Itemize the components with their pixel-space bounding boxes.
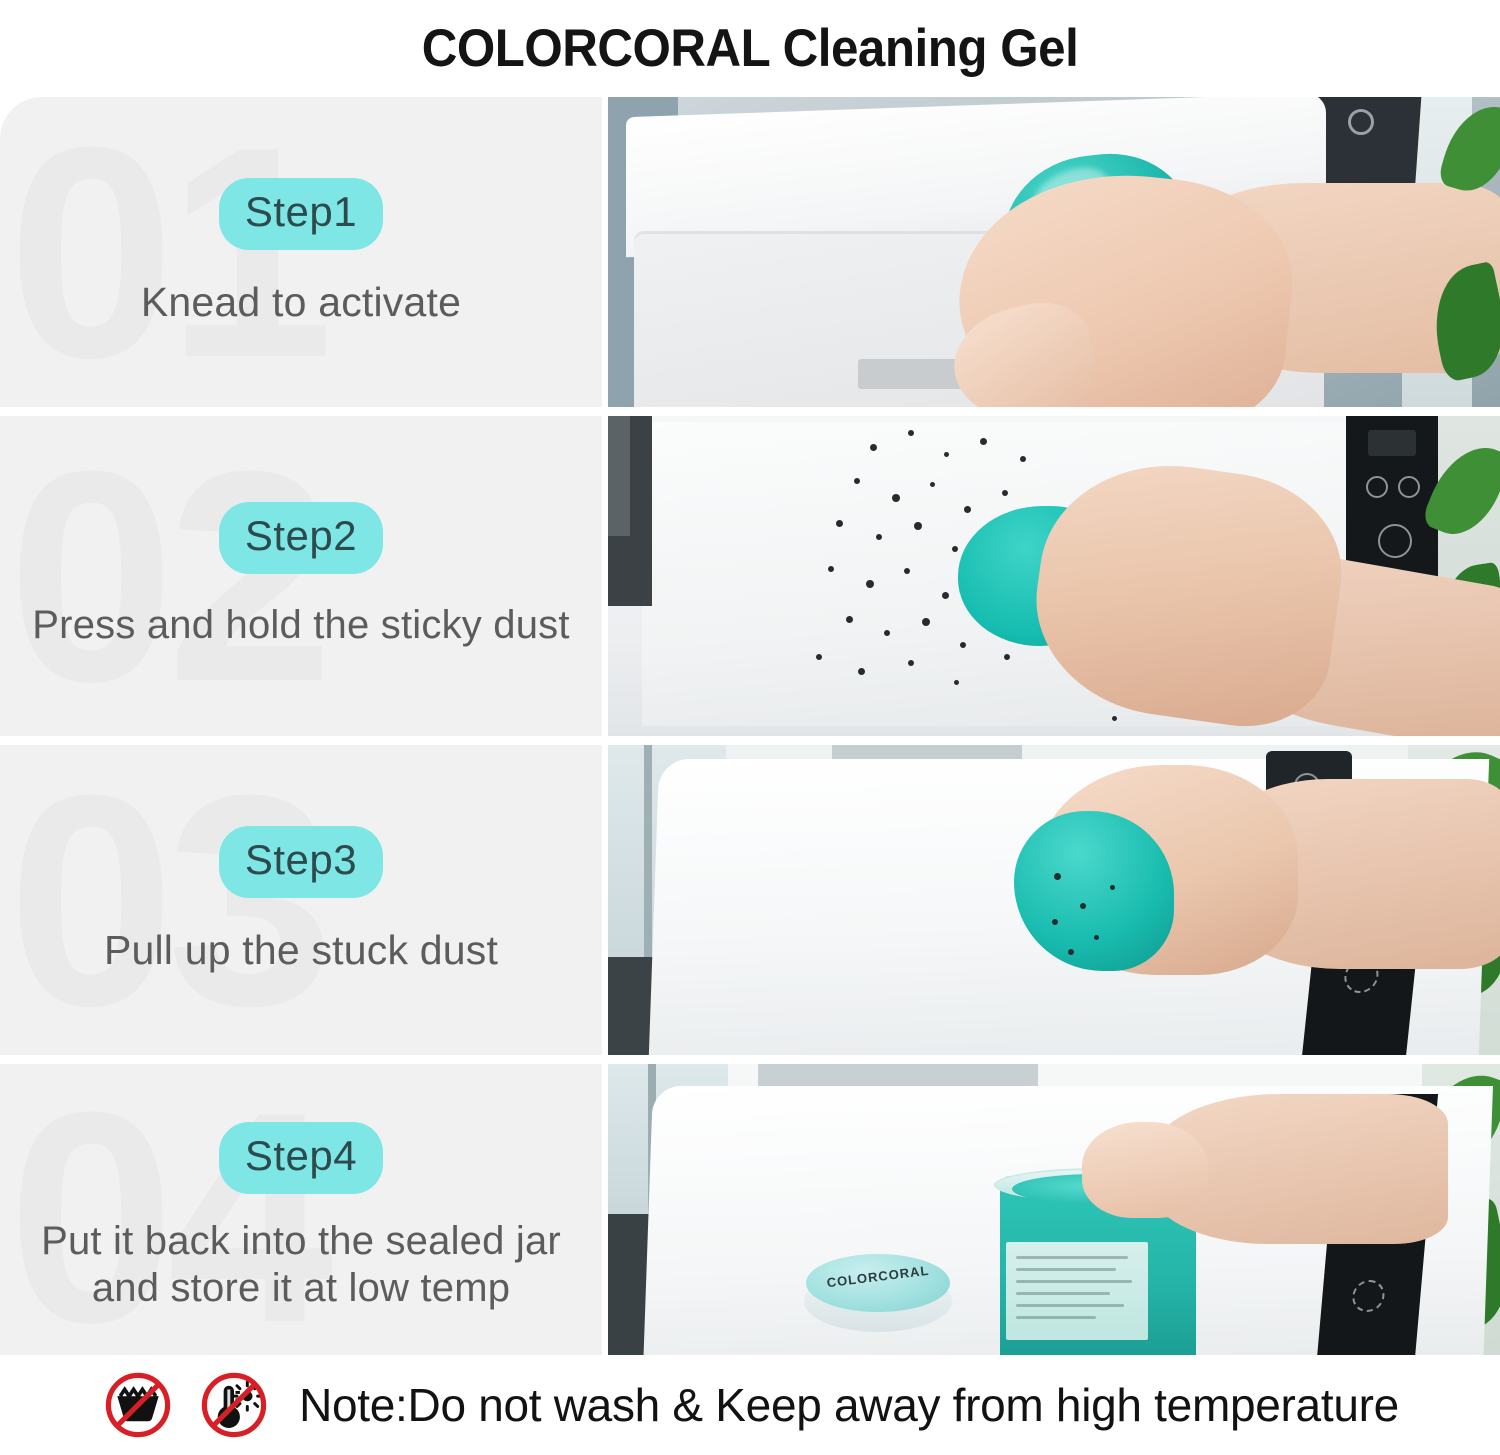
step-row: 04 Step4 Put it back into the sealed jar… <box>0 1064 1500 1370</box>
step-row: 02 Step2 Press and hold the sticky dust <box>0 416 1500 736</box>
no-wash-icon <box>101 1368 175 1442</box>
step-photo <box>608 416 1500 736</box>
steps-list: 01 Step1 Knead to activate 02 <box>0 97 1500 1370</box>
gear-icon <box>1398 476 1420 498</box>
display-readout <box>1368 430 1416 456</box>
step-description: Press and hold the sticky dust <box>32 602 569 649</box>
page-title: COLORCORAL Cleaning Gel <box>422 18 1079 79</box>
step-text-panel: 04 Step4 Put it back into the sealed jar… <box>0 1064 602 1370</box>
step-row: 03 Step3 Pull up the stuck dust <box>0 745 1500 1055</box>
page-header: COLORCORAL Cleaning Gel <box>0 0 1500 97</box>
step-badge: Step4 <box>219 1122 383 1194</box>
step-description: Pull up the stuck dust <box>104 926 498 974</box>
step-badge: Step2 <box>219 502 383 574</box>
no-high-temperature-icon <box>197 1368 271 1442</box>
step-badge: Step1 <box>219 178 383 250</box>
step-photo <box>608 745 1500 1055</box>
power-icon <box>1348 109 1374 135</box>
footer-note-bar: Note:Do not wash & Keep away from high t… <box>0 1355 1500 1455</box>
step-photo: COLORCORAL <box>608 1064 1500 1370</box>
footer-note-text: Note:Do not wash & Keep away from high t… <box>299 1378 1399 1432</box>
dark-edge-left-inner <box>608 416 630 536</box>
step-photo <box>608 97 1500 407</box>
step-description: Knead to activate <box>141 278 461 326</box>
step-text-panel: 01 Step1 Knead to activate <box>0 97 602 407</box>
jar-label <box>1006 1242 1148 1340</box>
finger <box>1082 1122 1208 1218</box>
step-badge: Step3 <box>219 826 383 898</box>
minus-icon <box>1366 476 1388 498</box>
step-text-panel: 02 Step2 Press and hold the sticky dust <box>0 416 602 736</box>
step-row: 01 Step1 Knead to activate <box>0 97 1500 407</box>
step-description: Put it back into the sealed jar and stor… <box>41 1218 561 1312</box>
wifi-icon <box>1351 1280 1386 1312</box>
step-text-panel: 03 Step3 Pull up the stuck dust <box>0 745 602 1055</box>
play-icon <box>1378 524 1412 558</box>
